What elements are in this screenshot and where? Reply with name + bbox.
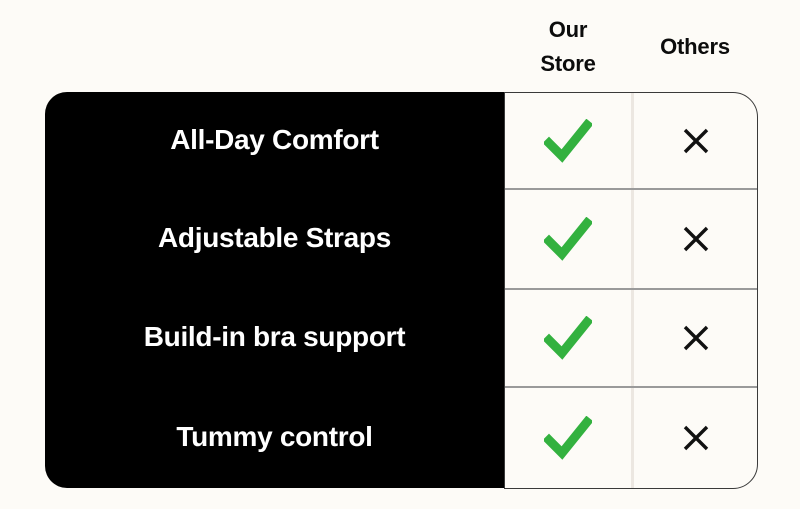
row-divider-1 (505, 188, 757, 190)
cell-others-2 (633, 190, 759, 288)
feature-panel: All-Day Comfort Adjustable Straps Build-… (45, 92, 504, 488)
column-header-our-store: Our Store (505, 13, 631, 81)
check-icon (544, 119, 592, 163)
comparison-table: Our Store Others (0, 0, 800, 509)
row-divider-2 (505, 288, 757, 290)
comparison-card (504, 92, 758, 489)
cell-others-4 (633, 388, 759, 488)
column-header-others: Others (632, 30, 758, 64)
table-row: Adjustable Straps (45, 188, 504, 288)
feature-label: Tummy control (176, 420, 372, 454)
feature-label: Adjustable Straps (158, 221, 391, 255)
cross-icon (681, 423, 711, 453)
cross-icon (681, 224, 711, 254)
cross-icon (681, 126, 711, 156)
row-divider-3 (505, 386, 757, 388)
cell-others-3 (633, 290, 759, 386)
table-row: All-Day Comfort (45, 92, 504, 188)
table-row: Tummy control (45, 386, 504, 488)
check-icon (544, 416, 592, 460)
cell-our-store-3 (505, 290, 631, 386)
cell-others-1 (633, 93, 759, 188)
check-icon (544, 316, 592, 360)
table-row: Build-in bra support (45, 288, 504, 386)
cell-our-store-1 (505, 93, 631, 188)
check-icon (544, 217, 592, 261)
feature-label: All-Day Comfort (170, 123, 379, 157)
cell-our-store-2 (505, 190, 631, 288)
feature-label: Build-in bra support (144, 320, 406, 354)
cell-our-store-4 (505, 388, 631, 488)
cross-icon (681, 323, 711, 353)
